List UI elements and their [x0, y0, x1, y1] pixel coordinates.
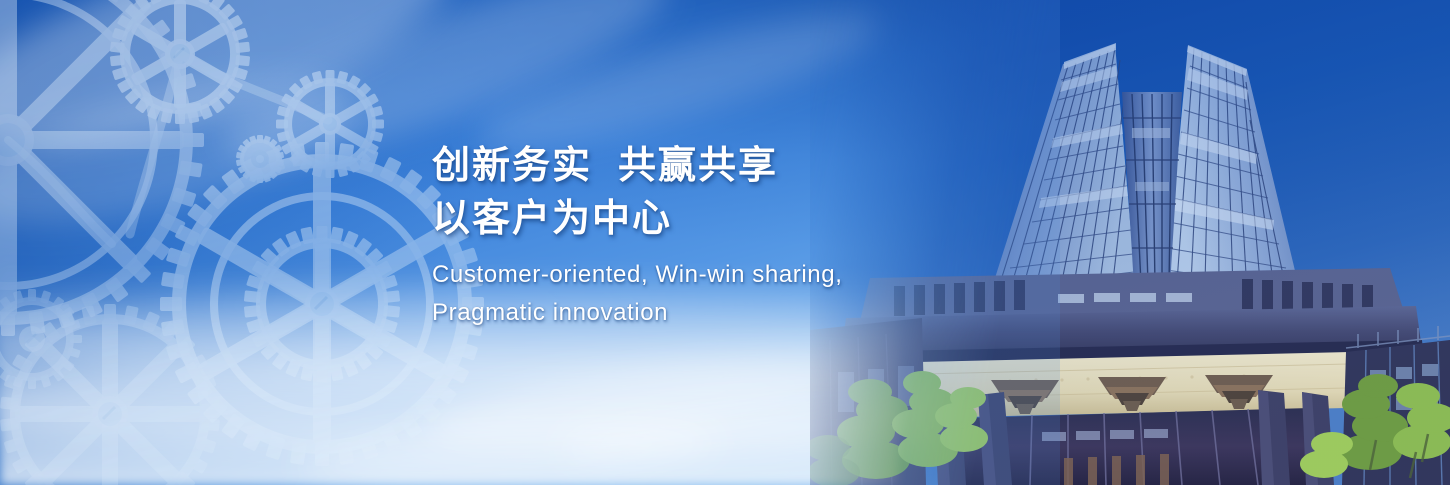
headline-part-b: 共赢共享: [618, 145, 778, 187]
hero-banner: 创新务实共赢共享 以客户为中心 Customer-oriented, Win-w…: [0, 0, 1450, 485]
subtitle-group: Customer-oriented, Win-win sharing, Prag…: [432, 256, 952, 332]
headline-line-1: 创新务实共赢共享: [432, 140, 952, 193]
headline-part-a: 创新务实: [432, 145, 592, 187]
subtitle-line-2: Pragmatic innovation: [432, 294, 952, 332]
subtitle-line-1: Customer-oriented, Win-win sharing,: [432, 256, 952, 294]
headline-line-2: 以客户为中心: [432, 193, 952, 246]
banner-text-block: 创新务实共赢共享 以客户为中心 Customer-oriented, Win-w…: [432, 140, 952, 332]
